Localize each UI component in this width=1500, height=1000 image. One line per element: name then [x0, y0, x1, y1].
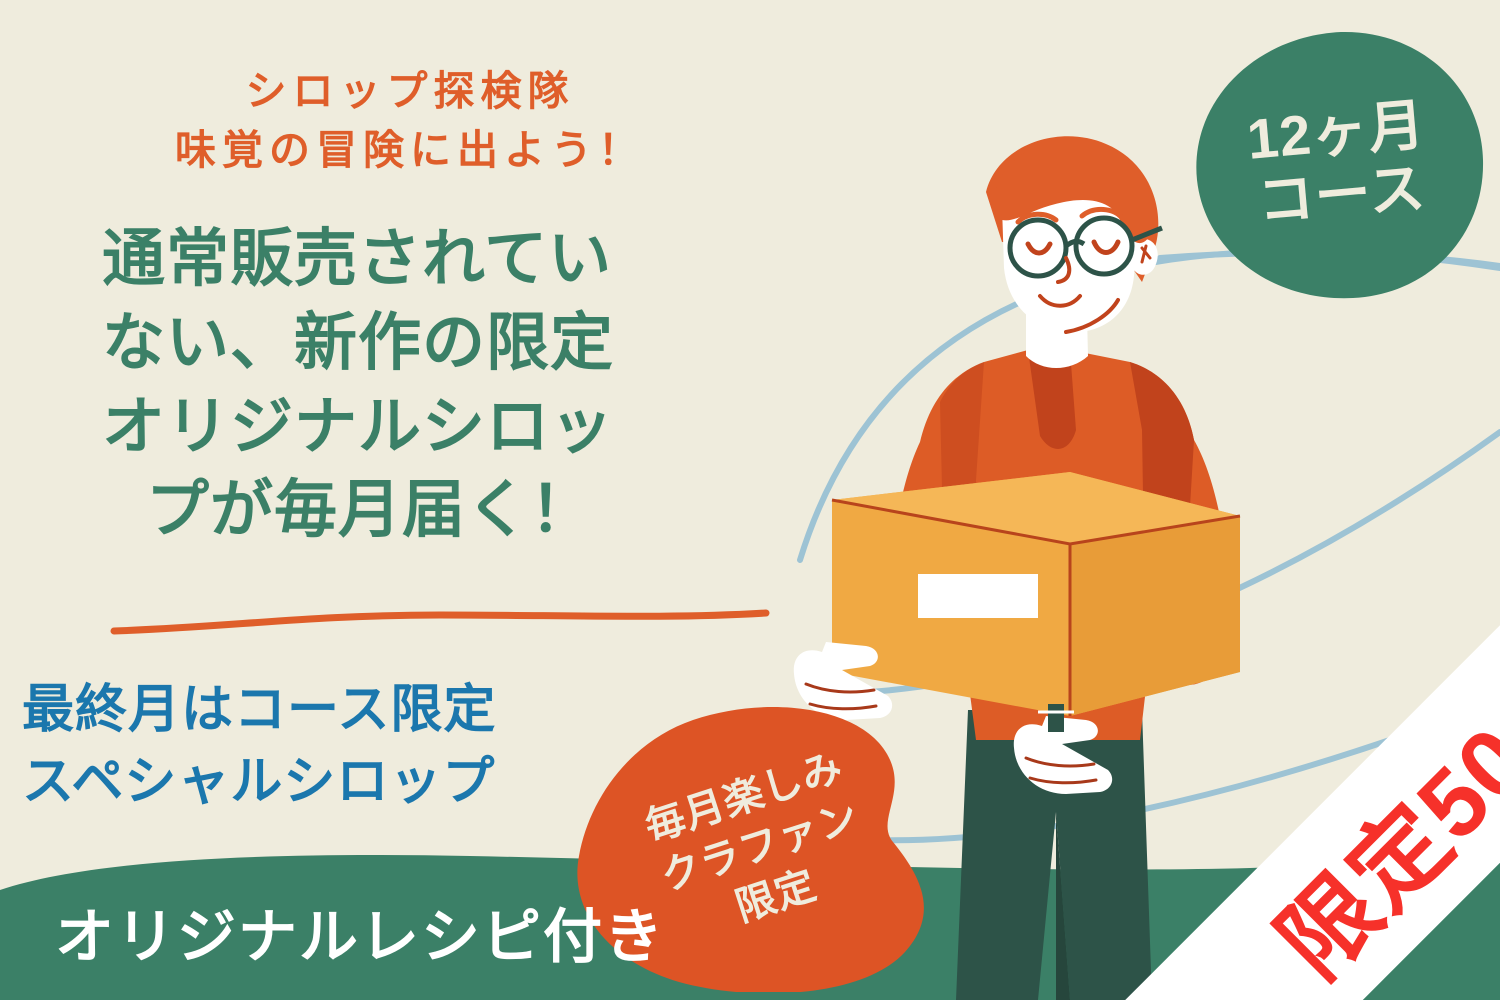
- divider-line: [114, 613, 766, 631]
- headline-line-1: 通常販売されてい: [58, 218, 798, 302]
- headline-line-3: オリジナルシロッ: [58, 386, 798, 470]
- page-title: 通常販売されてい ない、新作の限定 オリジナルシロッ プが毎月届く！: [58, 218, 798, 553]
- headline-line-4: プが毎月届く！: [58, 469, 798, 553]
- headline-line-2: ない、新作の限定: [58, 302, 798, 386]
- badge-green-label: 12ヶ月 コース: [1182, 16, 1497, 312]
- badge-green-line-2: コース: [1255, 157, 1428, 234]
- box-label: [918, 574, 1038, 618]
- eyebrow-text: シロップ探検隊 味覚の冒険に出よう！: [60, 62, 760, 181]
- ear: [1134, 239, 1158, 275]
- divider: [110, 605, 770, 645]
- eyebrow-line-1: シロップ探検隊: [60, 62, 760, 121]
- bottom-band-label: オリジナルレシピ付き: [55, 889, 665, 974]
- subhead-line-1: 最終月はコース限定: [22, 675, 496, 747]
- badge-12-month-course: 12ヶ月 コース: [1193, 28, 1485, 300]
- eyebrow-line-2: 味覚の冒険に出よう！: [60, 121, 760, 180]
- promo-banner: シロップ探検隊 味覚の冒険に出よう！ 通常販売されてい ない、新作の限定 オリジ…: [0, 0, 1500, 1000]
- belt: [1048, 704, 1064, 732]
- subhead-line-2: スペシャルシロップ: [22, 747, 496, 819]
- subhead-text: 最終月はコース限定 スペシャルシロップ: [22, 675, 496, 819]
